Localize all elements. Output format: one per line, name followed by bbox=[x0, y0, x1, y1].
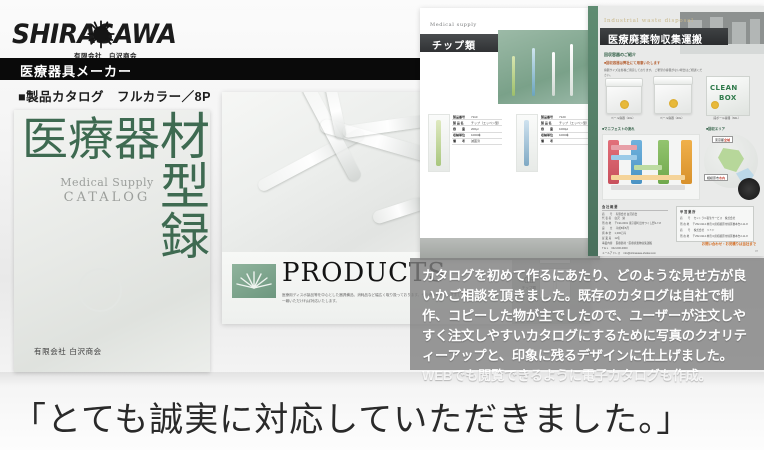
cover-subtitle-catalog: CATALOG bbox=[42, 190, 172, 205]
map-tag: 相模原市市内 bbox=[704, 174, 728, 181]
biohazard-icon bbox=[620, 100, 629, 109]
clean-box-text-1: CLEAN bbox=[710, 84, 738, 92]
map-land bbox=[718, 148, 744, 172]
testimonial-panel: カタログを初めて作るにあたり、どのような見せ方が良いかご相談を頂きました。既存の… bbox=[410, 258, 764, 370]
page-heading-bar: 医療廃棄物収集運搬 bbox=[600, 28, 728, 45]
mascot-stamp-icon bbox=[738, 178, 760, 200]
branch-office-box: 甲 営 業 所 商 号 セントラル衛生サービス 株式会社 所 在 地 〒252-… bbox=[676, 206, 754, 242]
testimonial-text: カタログを初めて作るにあたり、どのような見せ方が良いかご相談を頂きました。既存の… bbox=[422, 266, 752, 386]
table-row: 備 考滅菌済 bbox=[452, 138, 502, 144]
clean-box-text-2: BOX bbox=[719, 94, 737, 102]
contact-cta: お問い合わせ・お見積りは当社まで bbox=[702, 241, 756, 246]
cover-title-char: 療 bbox=[68, 116, 114, 162]
map-tag-highlight: 市内 bbox=[719, 176, 725, 180]
cover-title-char: 医 bbox=[22, 116, 68, 162]
catalog-spec-label: ■製品カタログ フルカラー／8P bbox=[18, 86, 211, 105]
page-eyebrow: Industrial waste disposal bbox=[604, 18, 694, 24]
chips-photo bbox=[498, 30, 600, 104]
cover-title-char: 器 bbox=[114, 116, 160, 162]
cover-subtitle-en: Medical Supply bbox=[42, 176, 172, 189]
page-heading-label: 医療廃棄物収集運搬 bbox=[608, 31, 703, 46]
spec-key: 備 考 bbox=[452, 138, 470, 144]
page-heading-label: チップ類 bbox=[432, 37, 476, 52]
page-eyebrow: Medical supply bbox=[430, 22, 477, 28]
flow-arrow bbox=[611, 145, 637, 150]
table-row: 備 考 bbox=[540, 138, 590, 144]
category-banner-label: 医療器具メーカー bbox=[20, 61, 132, 80]
branch-office-row: 商 号 株式会社 リミド bbox=[680, 228, 714, 232]
branch-office-row: 所 在 地 〒252-0114 神奈川県相模原市緑区橋本台2-11-8 bbox=[680, 222, 748, 226]
spec-value: 滅菌済 bbox=[470, 138, 502, 144]
client-quote: 「とても誠実に対応していただきました。」 bbox=[12, 392, 691, 441]
test-tube bbox=[371, 196, 426, 225]
flow-arrow bbox=[611, 175, 685, 180]
company-profile: 会 社 概 要 商 号 有限会社 白沢商会 代 表 者 白沢 勉 所 在 地 〒… bbox=[602, 204, 668, 256]
waste-bin bbox=[654, 80, 692, 114]
branch-office-row: 所 在 地 〒252-0114 神奈川県相模原市緑区橋本台2-11-8 bbox=[680, 234, 748, 238]
waste-bin-caption: ペール容器（20L） bbox=[600, 116, 646, 120]
catalog-cover-image: 医 療 器 材 型 録 Medical Supply CATALOG bbox=[14, 110, 210, 372]
map-tag-prefix: 相模原市 bbox=[707, 176, 719, 180]
page-footer-band bbox=[420, 238, 600, 260]
spec-value bbox=[558, 138, 590, 144]
waste-bin-caption: 段ボール容器（60L） bbox=[702, 116, 752, 120]
biohazard-icon bbox=[669, 99, 678, 108]
map-tag: 東京都全域 bbox=[712, 136, 733, 143]
branch-office-row: 商 号 セントラル衛生サービス 株式会社 bbox=[680, 216, 735, 220]
catalog-page-chips: Medical supply チップ類 製品番号7110 製 品 名チップ（エッ… bbox=[420, 8, 600, 260]
chip-tip bbox=[512, 56, 515, 96]
spec-key: 備 考 bbox=[540, 138, 558, 144]
chip-tip bbox=[552, 52, 555, 96]
waste-subheading-2: ■回収容器は弊社にて用意いたします bbox=[604, 60, 660, 65]
waste-bin-caption: ペール容器（40L） bbox=[648, 116, 696, 120]
starburst-icon bbox=[86, 19, 116, 49]
waste-bin bbox=[606, 82, 642, 114]
flow-arrow bbox=[611, 185, 685, 190]
product-thumb bbox=[428, 114, 450, 172]
flow-arrow bbox=[634, 165, 662, 170]
company-profile-row: メールアドレス info@shirasawa-shokai.com bbox=[602, 252, 668, 256]
product-spec-table: 製品番号7110 製 品 名チップ（エッペン型） 容 量200μl 収納単位10… bbox=[452, 114, 502, 145]
catalog-page-waste: Industrial waste disposal 医療廃棄物収集運搬 回収容器… bbox=[588, 6, 764, 256]
map-heading: ■回収エリア bbox=[706, 126, 725, 131]
chip-tip bbox=[570, 44, 573, 96]
cover-company-name: 有限会社 白沢商会 bbox=[34, 346, 102, 357]
products-burst-icon bbox=[232, 264, 276, 298]
product-spec-table: 製品番号7120 製 品 名チップ（エッペン型） 容 量1000μl 収納単位1… bbox=[540, 114, 590, 145]
map-tag-prefix: 東京都 bbox=[715, 138, 724, 142]
bin-lid bbox=[605, 78, 643, 87]
shadow-divider bbox=[0, 372, 764, 386]
company-profile-title: 会 社 概 要 bbox=[602, 204, 668, 211]
chip-tip bbox=[532, 48, 535, 96]
biohazard-icon bbox=[711, 101, 719, 109]
cover-title-char: 材 bbox=[160, 112, 210, 162]
product-thumb bbox=[516, 114, 538, 172]
flow-heading: ■マニフェストの流れ bbox=[602, 126, 635, 131]
page-number: 07 bbox=[755, 250, 758, 253]
pipette-ring-photo bbox=[28, 228, 188, 346]
company-logo[interactable]: SHIRASAWA bbox=[12, 14, 172, 58]
waste-subheading: 回収容器のご紹介 bbox=[604, 52, 636, 58]
page-side-band bbox=[588, 6, 598, 256]
clean-box: CLEAN BOX bbox=[706, 76, 750, 116]
branch-office-title: 甲 営 業 所 bbox=[680, 209, 695, 214]
page-root: SHIRASAWA bbox=[0, 0, 764, 450]
flow-arrow bbox=[611, 155, 637, 160]
manifest-flow-diagram bbox=[602, 134, 700, 200]
bin-lid bbox=[653, 76, 693, 85]
map-tag-highlight: 全域 bbox=[724, 138, 730, 142]
